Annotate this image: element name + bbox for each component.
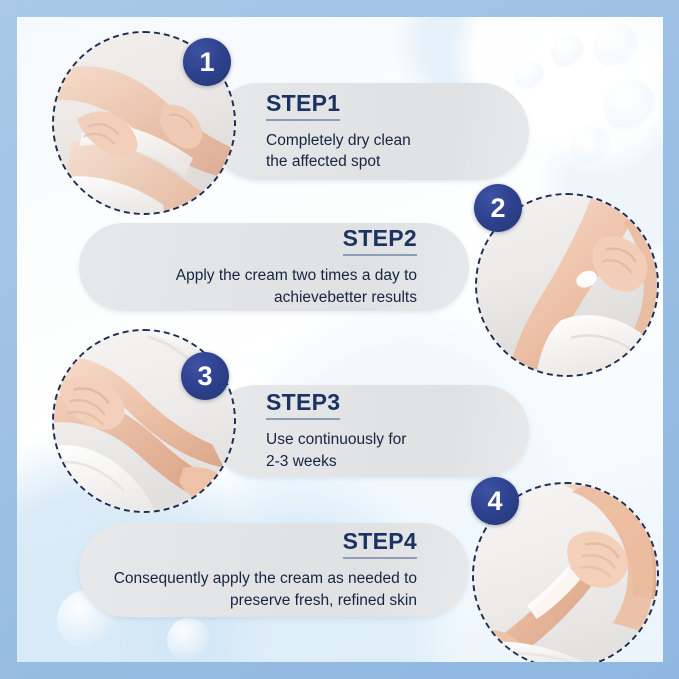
bokeh-decoration [551, 35, 585, 69]
step-4-text-panel: STEP4 Consequently apply the cream as ne… [79, 523, 469, 617]
step-3-title: STEP3 [266, 390, 340, 420]
infographic-poster: STEP1 Completely dry clean the affected … [0, 0, 679, 679]
step-3-description: Use continuously for 2-3 weeks [266, 429, 406, 472]
poster-canvas: STEP1 Completely dry clean the affected … [17, 17, 663, 662]
step-1-number-badge: 1 [183, 38, 231, 86]
step-1-description: Completely dry clean the affected spot [266, 130, 411, 173]
step-1-number: 1 [199, 49, 214, 76]
step-4-number: 4 [487, 488, 502, 515]
bokeh-decoration [571, 127, 611, 167]
step-4-description: Consequently apply the cream as needed t… [114, 568, 417, 611]
bokeh-decoration [603, 79, 657, 133]
step-4-title: STEP4 [343, 529, 417, 559]
step-2-number-badge: 2 [474, 184, 522, 232]
step-2-title: STEP2 [343, 226, 417, 256]
step-2-number: 2 [490, 195, 505, 222]
step-3-text-panel: STEP3 Use continuously for 2-3 weeks [210, 385, 529, 477]
step-3-number: 3 [197, 363, 212, 390]
step-2-text-panel: STEP2 Apply the cream two times a day to… [79, 223, 469, 311]
bokeh-decoration [593, 23, 639, 69]
step-1-title: STEP1 [266, 91, 340, 121]
step-1-text-panel: STEP1 Completely dry clean the affected … [210, 83, 529, 180]
step-2-description: Apply the cream two times a day to achie… [176, 265, 417, 308]
step-3-number-badge: 3 [181, 352, 229, 400]
step-4-number-badge: 4 [471, 477, 519, 525]
bokeh-decoration [167, 618, 211, 662]
